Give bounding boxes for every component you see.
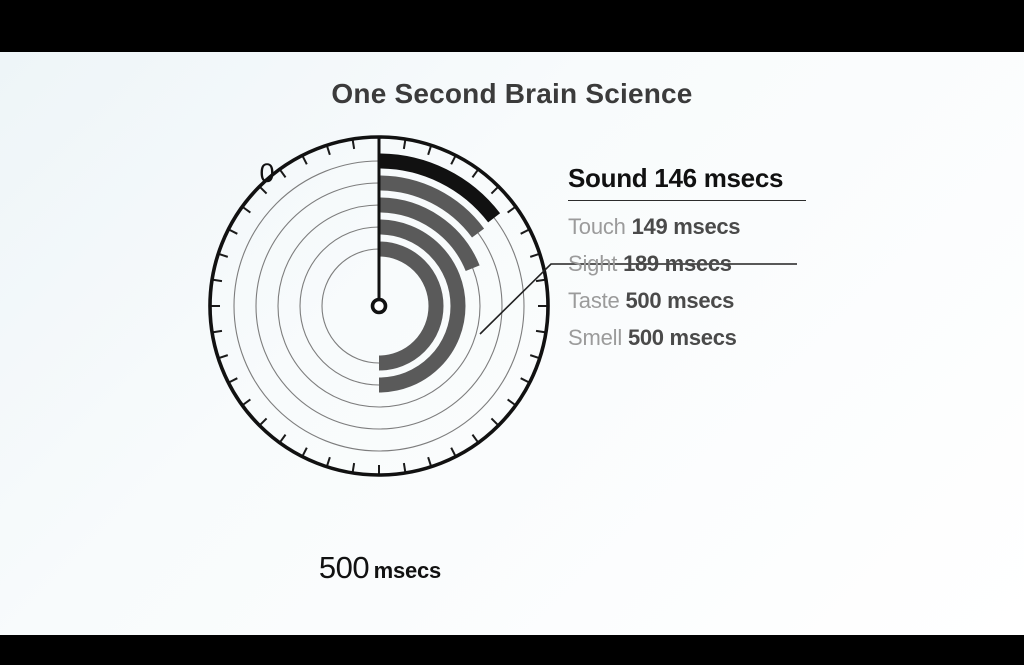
dial-tick <box>530 254 539 257</box>
dial-center-hub <box>373 300 386 313</box>
legend-row: Taste 500 msecs <box>568 289 988 312</box>
value-arcs-group <box>379 161 494 385</box>
dial-max-label: 500 msecs <box>180 550 580 586</box>
dial-tick <box>213 331 222 332</box>
dial-max-label-number: 500 <box>319 550 369 585</box>
dial-tick <box>303 448 307 456</box>
dial-tick <box>213 280 222 281</box>
legend-row: Smell 500 msecs <box>568 326 988 349</box>
dial-tick <box>536 280 545 281</box>
legend-row: Sight 189 msecs <box>568 252 988 275</box>
dial-tick <box>451 156 455 164</box>
dial-tick <box>521 378 529 382</box>
dial-tick <box>508 399 515 404</box>
legend-divider <box>568 200 806 201</box>
dial-tick <box>508 207 515 212</box>
dial-max-label-unit: msecs <box>374 558 442 583</box>
page-title: One Second Brain Science <box>0 78 1024 110</box>
dial-tick <box>491 187 497 193</box>
dial-tick <box>353 140 354 149</box>
legend-sense-label: Smell <box>568 325 628 350</box>
legend-value-label: 189 msecs <box>623 251 732 276</box>
letterbox-bottom <box>0 635 1024 665</box>
dial-tick <box>536 331 545 332</box>
dial-tick <box>428 146 431 155</box>
dial-tick <box>280 435 285 442</box>
legend-sense-label: Touch <box>568 214 632 239</box>
letterbox-top <box>0 0 1024 52</box>
dial-tick <box>243 207 250 212</box>
dial-tick <box>327 457 330 466</box>
dial-tick <box>280 170 285 177</box>
dial-tick <box>353 463 354 472</box>
legend-value-label: 500 msecs <box>626 288 735 313</box>
dial-tick <box>472 170 477 177</box>
dial-tick <box>327 146 330 155</box>
dial-tick <box>472 435 477 442</box>
slide-canvas: One Second Brain Science 0 500 msecs Sou… <box>0 52 1024 635</box>
dial-tick <box>229 230 237 234</box>
slide-stage: One Second Brain Science 0 500 msecs Sou… <box>0 0 1024 665</box>
dial-tick <box>404 463 405 472</box>
radial-chart-svg <box>180 110 580 510</box>
legend-value-label: 149 msecs <box>632 214 741 239</box>
dial-tick <box>521 230 529 234</box>
legend-row: Touch 149 msecs <box>568 215 988 238</box>
legend-rows: Touch 149 msecsSight 189 msecsTaste 500 … <box>568 215 988 349</box>
dial-tick <box>219 355 228 358</box>
legend-sense-label: Taste <box>568 288 626 313</box>
radial-chart <box>180 110 580 510</box>
dial-tick <box>491 418 497 424</box>
dial-tick <box>530 355 539 358</box>
dial-tick <box>303 156 307 164</box>
dial-tick <box>243 399 250 404</box>
dial-tick <box>404 140 405 149</box>
dial-tick <box>451 448 455 456</box>
dial-tick <box>229 378 237 382</box>
dial-tick <box>260 187 266 193</box>
legend-sense-label: Sight <box>568 251 623 276</box>
value-arc-smell <box>379 249 436 363</box>
dial-tick <box>219 254 228 257</box>
dial-tick <box>260 418 266 424</box>
dial-tick <box>428 457 431 466</box>
legend: Sound 146 msecs Touch 149 msecsSight 189… <box>568 164 988 349</box>
legend-value-label: 500 msecs <box>628 325 737 350</box>
legend-heading: Sound 146 msecs <box>568 164 988 193</box>
